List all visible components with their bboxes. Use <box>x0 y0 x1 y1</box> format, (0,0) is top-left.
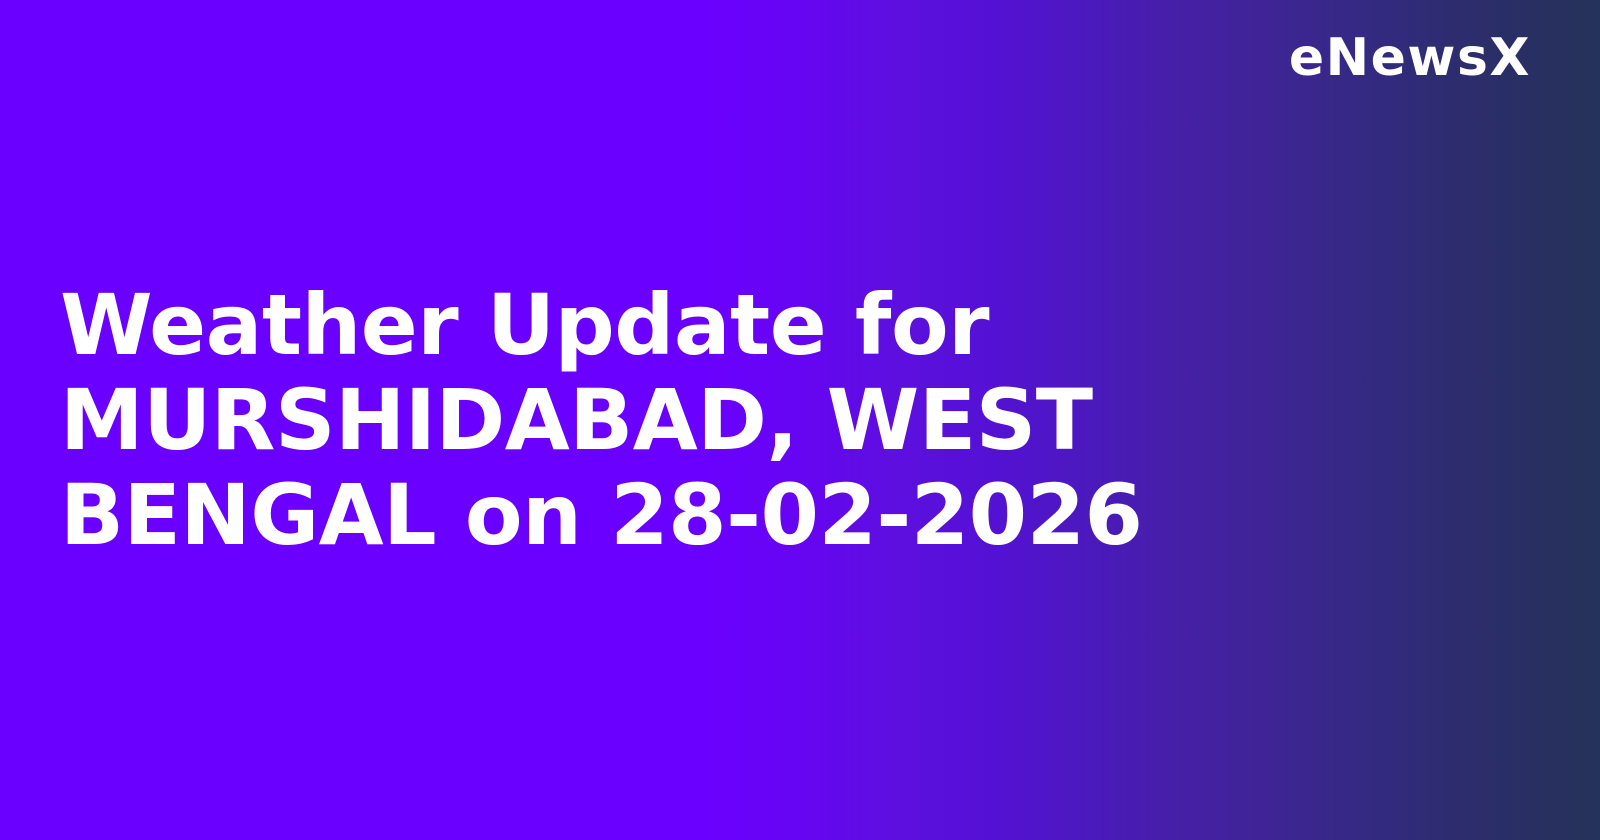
news-card: eNewsX Weather Update for MURSHIDABAD, W… <box>0 0 1600 840</box>
page-title: Weather Update for MURSHIDABAD, WEST BEN… <box>60 278 1170 563</box>
brand-logo: eNewsX <box>1289 32 1531 84</box>
headline-container: Weather Update for MURSHIDABAD, WEST BEN… <box>60 0 1170 840</box>
